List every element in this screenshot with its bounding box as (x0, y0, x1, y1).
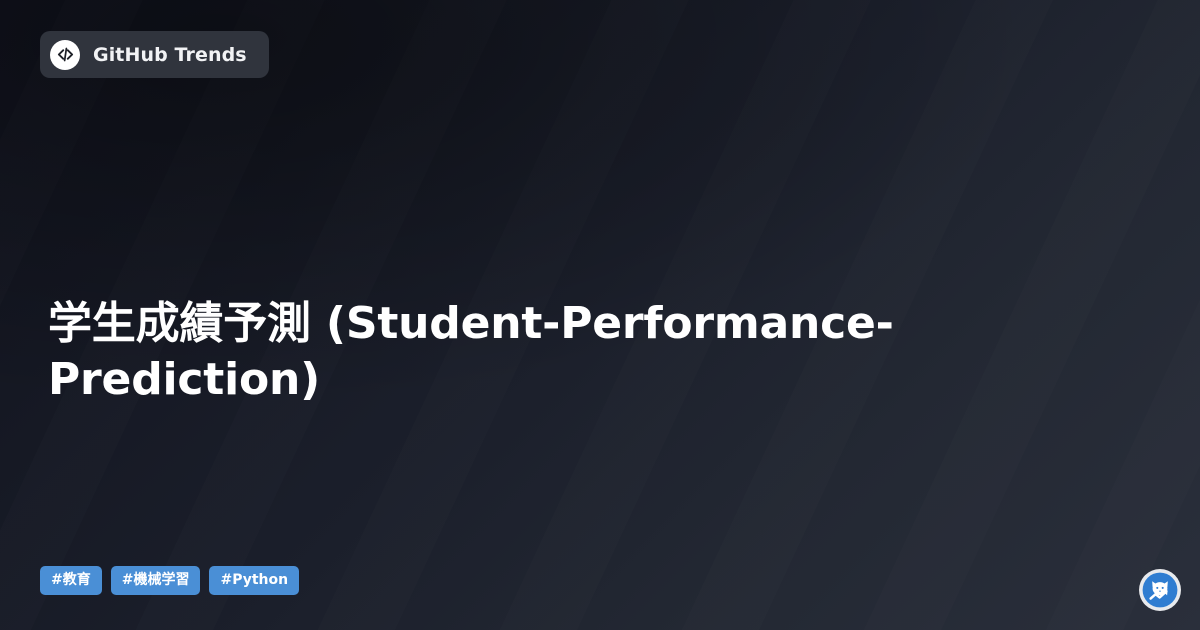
tag-list: #教育 #機械学習 #Python (40, 566, 299, 595)
social-preview-card: GitHub Trends 学生成績予測 (Student-Performanc… (0, 0, 1200, 630)
tag-machine-learning[interactable]: #機械学習 (111, 566, 201, 595)
cat-trend-logo-icon (1138, 568, 1182, 612)
page-title: 学生成績予測 (Student-Performance-Prediction) (48, 296, 1138, 409)
source-badge: GitHub Trends (40, 31, 269, 78)
tag-python[interactable]: #Python (209, 566, 299, 595)
code-brackets-icon (50, 40, 80, 70)
tag-education[interactable]: #教育 (40, 566, 102, 595)
source-badge-label: GitHub Trends (93, 44, 247, 66)
